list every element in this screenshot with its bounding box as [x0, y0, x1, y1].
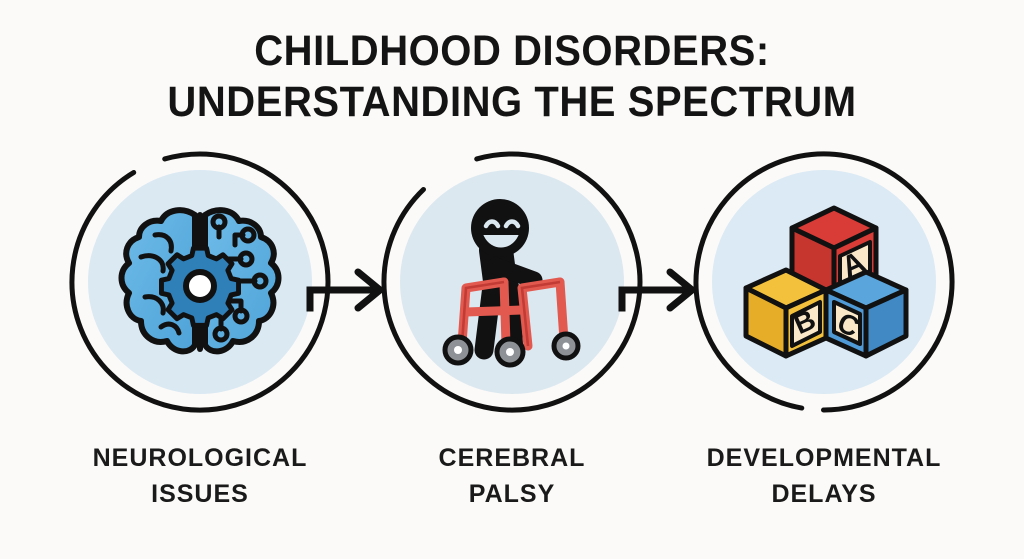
node-neurological[interactable]: [70, 152, 330, 412]
caption-cerebral-palsy-line-2: PALSY: [347, 476, 677, 512]
infographic-canvas: CHILDHOOD DISORDERS: UNDERSTANDING THE S…: [0, 0, 1024, 559]
caption-neurological-line-1: NEUROLOGICAL: [35, 440, 365, 476]
caption-cerebral-palsy-line-1: CEREBRAL: [347, 440, 677, 476]
caption-developmental-delays-line-2: DELAYS: [659, 476, 989, 512]
arrow-2: [608, 246, 728, 326]
child-with-walker-icon: [382, 152, 642, 412]
title-line-2: UNDERSTANDING THE SPECTRUM: [36, 77, 988, 128]
caption-developmental-delays-line-1: DEVELOPMENTAL: [659, 440, 989, 476]
title-line-1: CHILDHOOD DISORDERS:: [36, 26, 988, 77]
brain-gear-circuit-icon: [70, 152, 330, 412]
page-title: CHILDHOOD DISORDERS: UNDERSTANDING THE S…: [0, 26, 1024, 128]
node-cerebral-palsy[interactable]: [382, 152, 642, 412]
arrow-1: [296, 246, 416, 326]
caption-developmental-delays: DEVELOPMENTAL DELAYS: [659, 440, 989, 512]
caption-neurological: NEUROLOGICAL ISSUES: [35, 440, 365, 512]
abc-blocks-icon: A B C: [694, 152, 954, 412]
node-developmental-delays[interactable]: A B C: [694, 152, 954, 412]
caption-cerebral-palsy: CEREBRAL PALSY: [347, 440, 677, 512]
caption-neurological-line-2: ISSUES: [35, 476, 365, 512]
